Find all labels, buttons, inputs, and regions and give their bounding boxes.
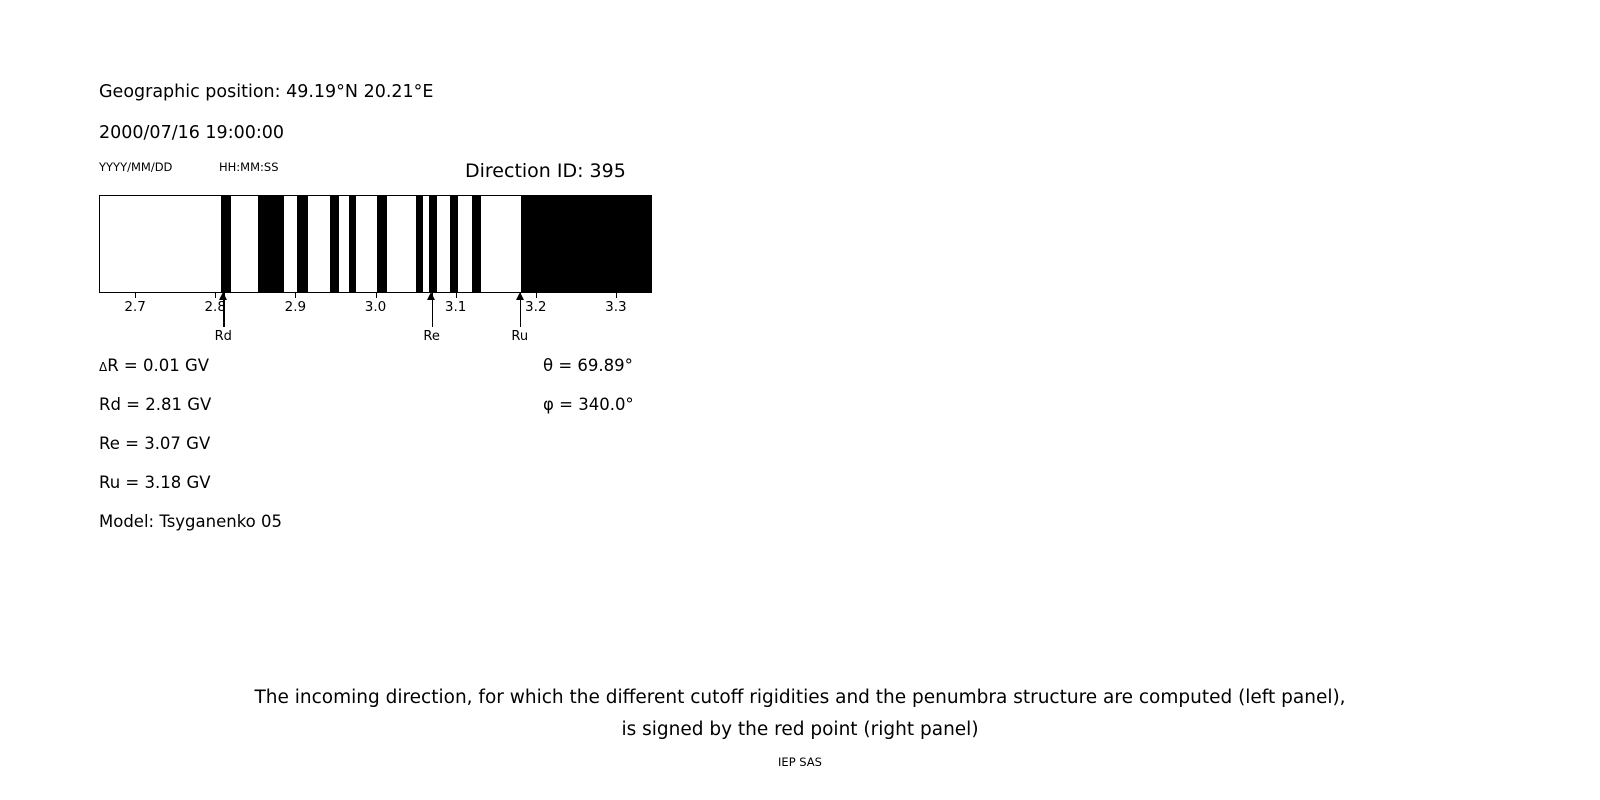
penumbra-x-tick-label: 3.0	[365, 299, 386, 315]
param-phi: φ = 340.0°	[543, 395, 634, 414]
penumbra-allowed-band	[429, 196, 437, 292]
penumbra-allowed-band	[297, 196, 308, 292]
penumbra-allowed-band	[221, 196, 231, 292]
param-delta-r: ΔR = 0.01 GV	[99, 356, 209, 375]
geographic-position-text: Geographic position: 49.19°N 20.21°E	[99, 82, 434, 102]
penumbra-allowed-band	[330, 196, 339, 292]
arrow-head-icon	[219, 292, 227, 300]
caption-line-2: is signed by the red point (right panel)	[0, 719, 1600, 740]
penumbra-allowed-band	[521, 196, 652, 292]
penumbra-x-tick	[536, 293, 537, 298]
param-re: Re = 3.07 GV	[99, 434, 210, 453]
cutoff-marker-label: Rd	[215, 329, 232, 344]
footer-credit: IEP SAS	[0, 755, 1600, 769]
time-format-hint: HH:MM:SS	[219, 160, 279, 174]
penumbra-x-tick	[376, 293, 377, 298]
penumbra-x-tick	[215, 293, 216, 298]
penumbra-allowed-band	[258, 196, 284, 292]
penumbra-allowed-band	[349, 196, 355, 292]
arrow-head-icon	[516, 292, 524, 300]
penumbra-allowed-band	[377, 196, 387, 292]
penumbra-x-tick-label: 3.3	[605, 299, 626, 315]
penumbra-bar-chart	[99, 195, 652, 293]
penumbra-x-tick-label: 3.1	[445, 299, 466, 315]
penumbra-x-tick-label: 2.9	[285, 299, 306, 315]
penumbra-allowed-band	[450, 196, 458, 292]
param-rd: Rd = 2.81 GV	[99, 395, 211, 414]
datetime-text: 2000/07/16 19:00:00	[99, 123, 284, 143]
penumbra-x-tick	[456, 293, 457, 298]
penumbra-x-tick-label: 3.2	[525, 299, 546, 315]
penumbra-allowed-band	[416, 196, 423, 292]
direction-map-panel: −1.00−0.75−0.50−0.250.000.250.500.751.00…	[800, 0, 1600, 680]
penumbra-x-axis: 2.72.82.93.03.13.23.3RdReRu	[99, 293, 652, 339]
penumbra-allowed-band	[472, 196, 482, 292]
penumbra-x-tick	[295, 293, 296, 298]
cutoff-marker-label: Ru	[511, 329, 528, 344]
penumbra-panel: Geographic position: 49.19°N 20.21°E 200…	[0, 0, 800, 680]
arrow-head-icon	[427, 292, 435, 300]
param-model: Model: Tsyganenko 05	[99, 512, 282, 531]
penumbra-x-tick-label: 2.7	[124, 299, 145, 315]
param-delta-r-value: R = 0.01 GV	[107, 356, 209, 375]
param-ru: Ru = 3.18 GV	[99, 473, 211, 492]
param-delta-r-symbol: Δ	[99, 360, 107, 374]
param-theta: θ = 69.89°	[543, 356, 633, 375]
caption-line-1: The incoming direction, for which the di…	[0, 687, 1600, 708]
cutoff-marker-label: Re	[423, 329, 439, 344]
date-format-hint: YYYY/MM/DD	[99, 160, 172, 174]
penumbra-x-tick	[616, 293, 617, 298]
penumbra-x-tick	[135, 293, 136, 298]
direction-id-text: Direction ID: 395	[465, 160, 626, 182]
